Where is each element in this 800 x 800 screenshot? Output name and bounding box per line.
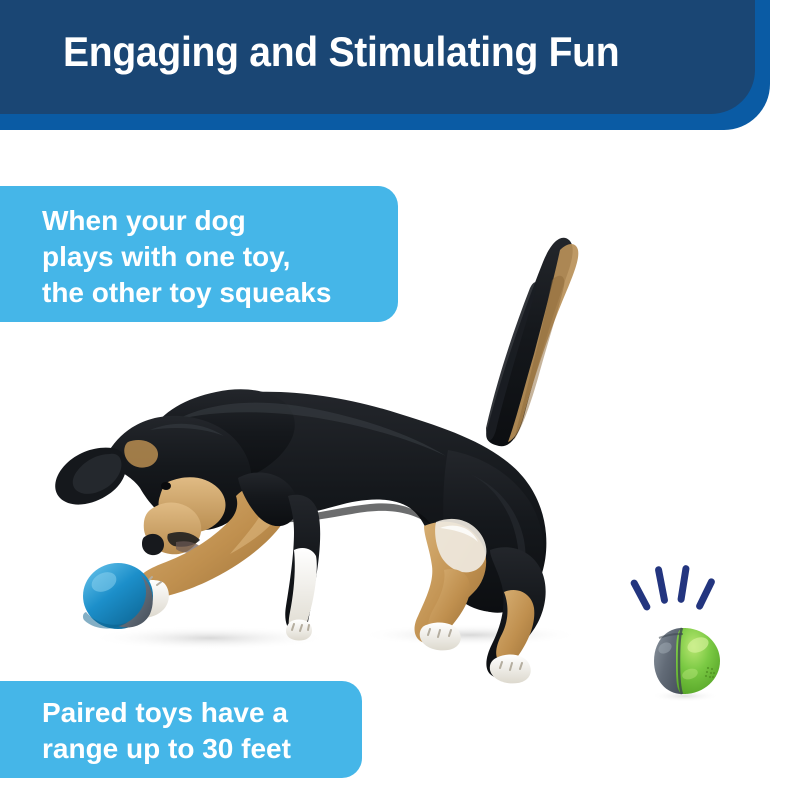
toy-blue — [83, 563, 153, 629]
callout-top-line-3: the other toy squeaks — [42, 275, 398, 311]
toy-green-group — [628, 552, 738, 684]
callout-box-feature: When your dog plays with one toy, the ot… — [0, 186, 398, 322]
callout-bottom-line-2: range up to 30 feet — [42, 731, 362, 767]
dog-tail — [486, 238, 578, 446]
squeak-line-3 — [677, 565, 690, 604]
squeak-line-4 — [695, 577, 716, 611]
callout-box-range: Paired toys have a range up to 30 feet — [0, 681, 362, 778]
product-feature-image: Engaging and Stimulating Fun — [0, 0, 800, 800]
page-title: Engaging and Stimulating Fun — [63, 28, 619, 76]
callout-top-line-2: plays with one toy, — [42, 239, 398, 275]
squeak-line-2 — [654, 566, 668, 605]
ground-shadow-rear — [360, 624, 580, 646]
header-banner: Engaging and Stimulating Fun — [0, 0, 800, 134]
squeak-line-1 — [629, 578, 651, 611]
callout-bottom-line-1: Paired toys have a — [42, 695, 362, 731]
toy-green — [628, 612, 738, 702]
callout-top-line-1: When your dog — [42, 203, 398, 239]
